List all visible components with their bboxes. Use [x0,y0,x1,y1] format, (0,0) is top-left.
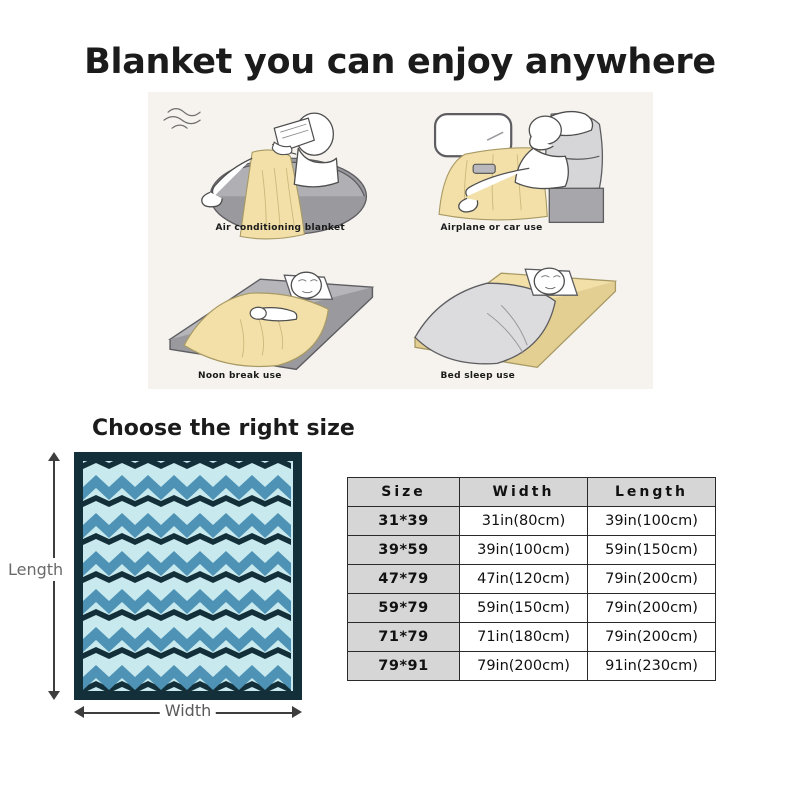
cell-length: 91in(230cm) [588,652,716,681]
cell-size: 47*79 [348,565,460,594]
chevron-pattern-svg [83,461,293,691]
cell-length: 39in(100cm) [588,507,716,536]
cell-width: 39in(100cm) [460,536,588,565]
cell-width: 59in(150cm) [460,594,588,623]
bed-sleep-illustration [401,241,654,390]
column-header-size: Size [348,478,460,507]
table-row: 39*59 39in(100cm) 59in(150cm) [348,536,716,565]
length-label: Length [6,558,65,581]
blanket-chevron-pattern [83,461,293,691]
size-table-container: Size Width Length 31*39 31in(80cm) 39in(… [347,477,715,681]
table-row: 71*79 71in(180cm) 79in(200cm) [348,623,716,652]
cell-size: 71*79 [348,623,460,652]
cell-width: 79in(200cm) [460,652,588,681]
table-row: 31*39 31in(80cm) 39in(100cm) [348,507,716,536]
cell-size: 79*91 [348,652,460,681]
table-row: 47*79 47in(120cm) 79in(200cm) [348,565,716,594]
cell-width: 31in(80cm) [460,507,588,536]
table-row: 59*79 59in(150cm) 79in(200cm) [348,594,716,623]
noon-break-illustration [148,241,401,390]
airplane-car-illustration [401,92,654,241]
scene-air-conditioning: Air conditioning blanket [148,92,401,241]
usage-scenes-panel: Air conditioning blanket [148,92,653,389]
column-header-length: Length [588,478,716,507]
cell-length: 59in(150cm) [588,536,716,565]
scene-bed-sleep: Bed sleep use [401,241,654,390]
arrow-down-icon [48,691,60,700]
cell-length: 79in(200cm) [588,565,716,594]
scene-caption: Airplane or car use [401,223,654,233]
page-title: Blanket you can enjoy anywhere [0,42,800,82]
cell-width: 71in(180cm) [460,623,588,652]
size-table: Size Width Length 31*39 31in(80cm) 39in(… [347,477,716,681]
width-dimension-arrow: Width [74,706,302,720]
cell-size: 59*79 [348,594,460,623]
scene-caption: Air conditioning blanket [148,223,407,233]
cell-length: 79in(200cm) [588,594,716,623]
size-section-heading: Choose the right size [92,416,355,441]
blanket-swatch-border [74,452,302,700]
cell-size: 31*39 [348,507,460,536]
air-conditioning-illustration [148,92,401,241]
cell-size: 39*59 [348,536,460,565]
column-header-width: Width [460,478,588,507]
table-header-row: Size Width Length [348,478,716,507]
blanket-swatch [74,452,302,700]
scene-caption: Bed sleep use [401,371,654,381]
width-label: Width [160,701,216,720]
cell-length: 79in(200cm) [588,623,716,652]
scene-noon-break: Noon break use [148,241,401,390]
cell-width: 47in(120cm) [460,565,588,594]
table-row: 79*91 79in(200cm) 91in(230cm) [348,652,716,681]
scene-airplane-car: Airplane or car use [401,92,654,241]
arrow-right-icon [292,706,302,718]
